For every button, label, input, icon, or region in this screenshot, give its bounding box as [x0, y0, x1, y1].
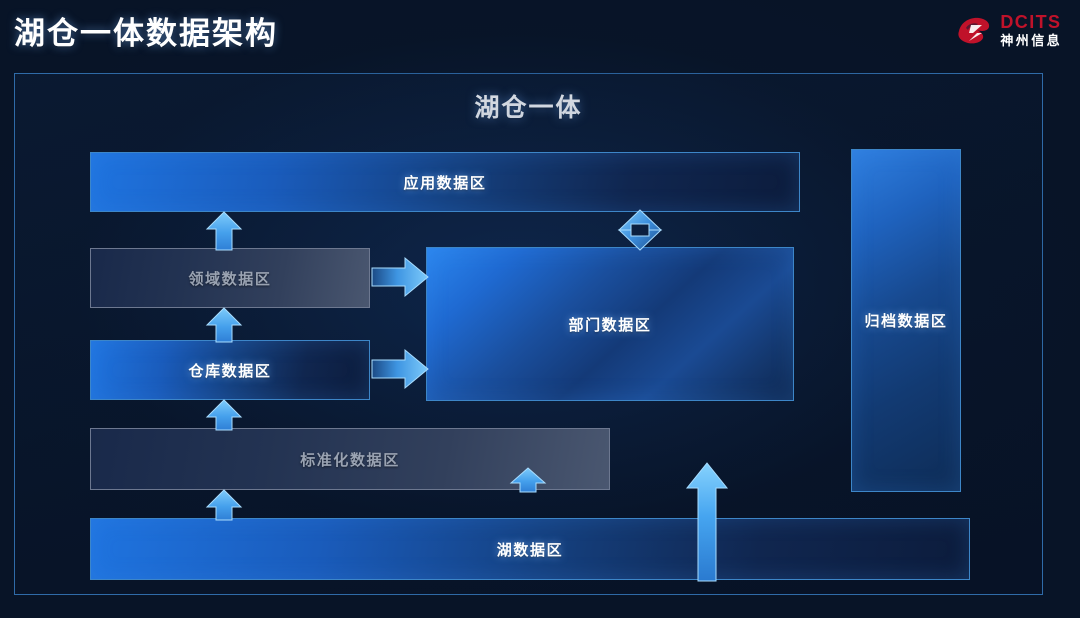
zone-label: 部门数据区	[568, 314, 651, 335]
architecture-panel: 湖仓一体 应用数据区 领域数据区 仓库数据区 标准化数据区 湖数据区 部门数据区…	[14, 73, 1043, 595]
zone-archive-data[interactable]: 归档数据区	[851, 149, 961, 492]
brand-logo: DCITS 神州信息	[955, 8, 1062, 52]
arrow-right-domain-to-dept	[372, 258, 428, 296]
zone-label: 归档数据区	[864, 310, 947, 331]
zone-label: 应用数据区	[403, 172, 486, 193]
logo-wordmark: DCITS 神州信息	[1000, 13, 1062, 47]
diagram-title: 湖仓一体	[15, 88, 1042, 124]
logo-text-cn: 神州信息	[1000, 34, 1062, 47]
zone-label: 湖数据区	[497, 539, 563, 560]
page-title: 湖仓一体数据架构	[14, 8, 278, 53]
zone-label: 仓库数据区	[188, 360, 271, 381]
arrow-up-lake-to-standard	[207, 490, 241, 520]
zone-department-data[interactable]: 部门数据区	[426, 247, 794, 401]
zone-label: 标准化数据区	[300, 449, 400, 470]
zone-application-data[interactable]: 应用数据区	[90, 152, 800, 212]
slide-header: 湖仓一体数据架构 DCITS 神州信息	[0, 0, 1080, 62]
arrow-up-standard-to-warehouse	[207, 400, 241, 430]
arrow-updown-dept-to-app	[619, 210, 661, 250]
zone-label: 领域数据区	[188, 268, 271, 289]
zone-domain-data[interactable]: 领域数据区	[90, 248, 370, 308]
arrow-right-warehouse-to-dept	[372, 350, 428, 388]
arrow-up-warehouse-to-domain	[207, 308, 241, 342]
logo-text-en: DCITS	[1000, 13, 1062, 31]
arrow-up-domain-to-app	[207, 212, 241, 250]
zone-lake-data[interactable]: 湖数据区	[90, 518, 970, 580]
arrow-up-standard-to-dept	[511, 468, 545, 492]
dcits-swirl-icon	[955, 14, 993, 47]
arrow-up-long-lake-to-dept	[687, 463, 727, 581]
slide-canvas: 湖仓一体数据架构 DCITS 神州信息 湖仓一体 应用数据区 领域数据区	[0, 0, 1080, 618]
zone-warehouse-data[interactable]: 仓库数据区	[90, 340, 370, 400]
